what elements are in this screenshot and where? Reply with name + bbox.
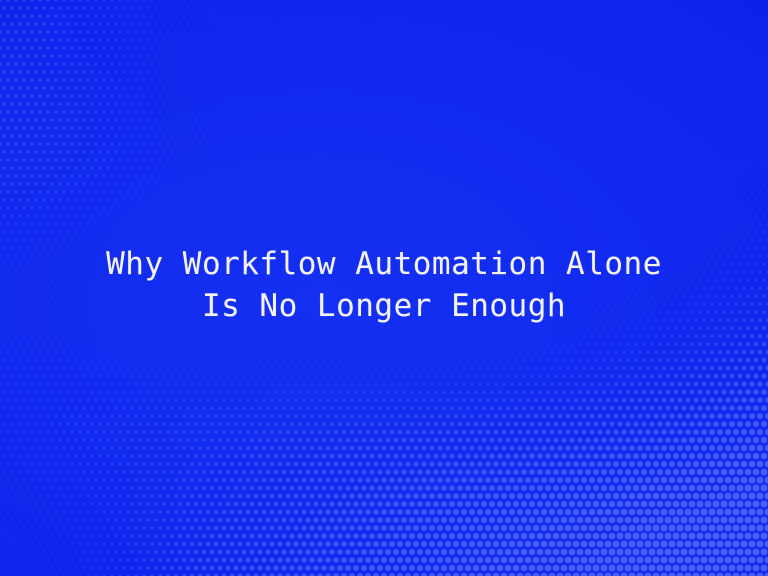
halftone-dot-pattern xyxy=(0,0,768,576)
title-card: Why Workflow Automation Alone Is No Long… xyxy=(0,0,768,576)
